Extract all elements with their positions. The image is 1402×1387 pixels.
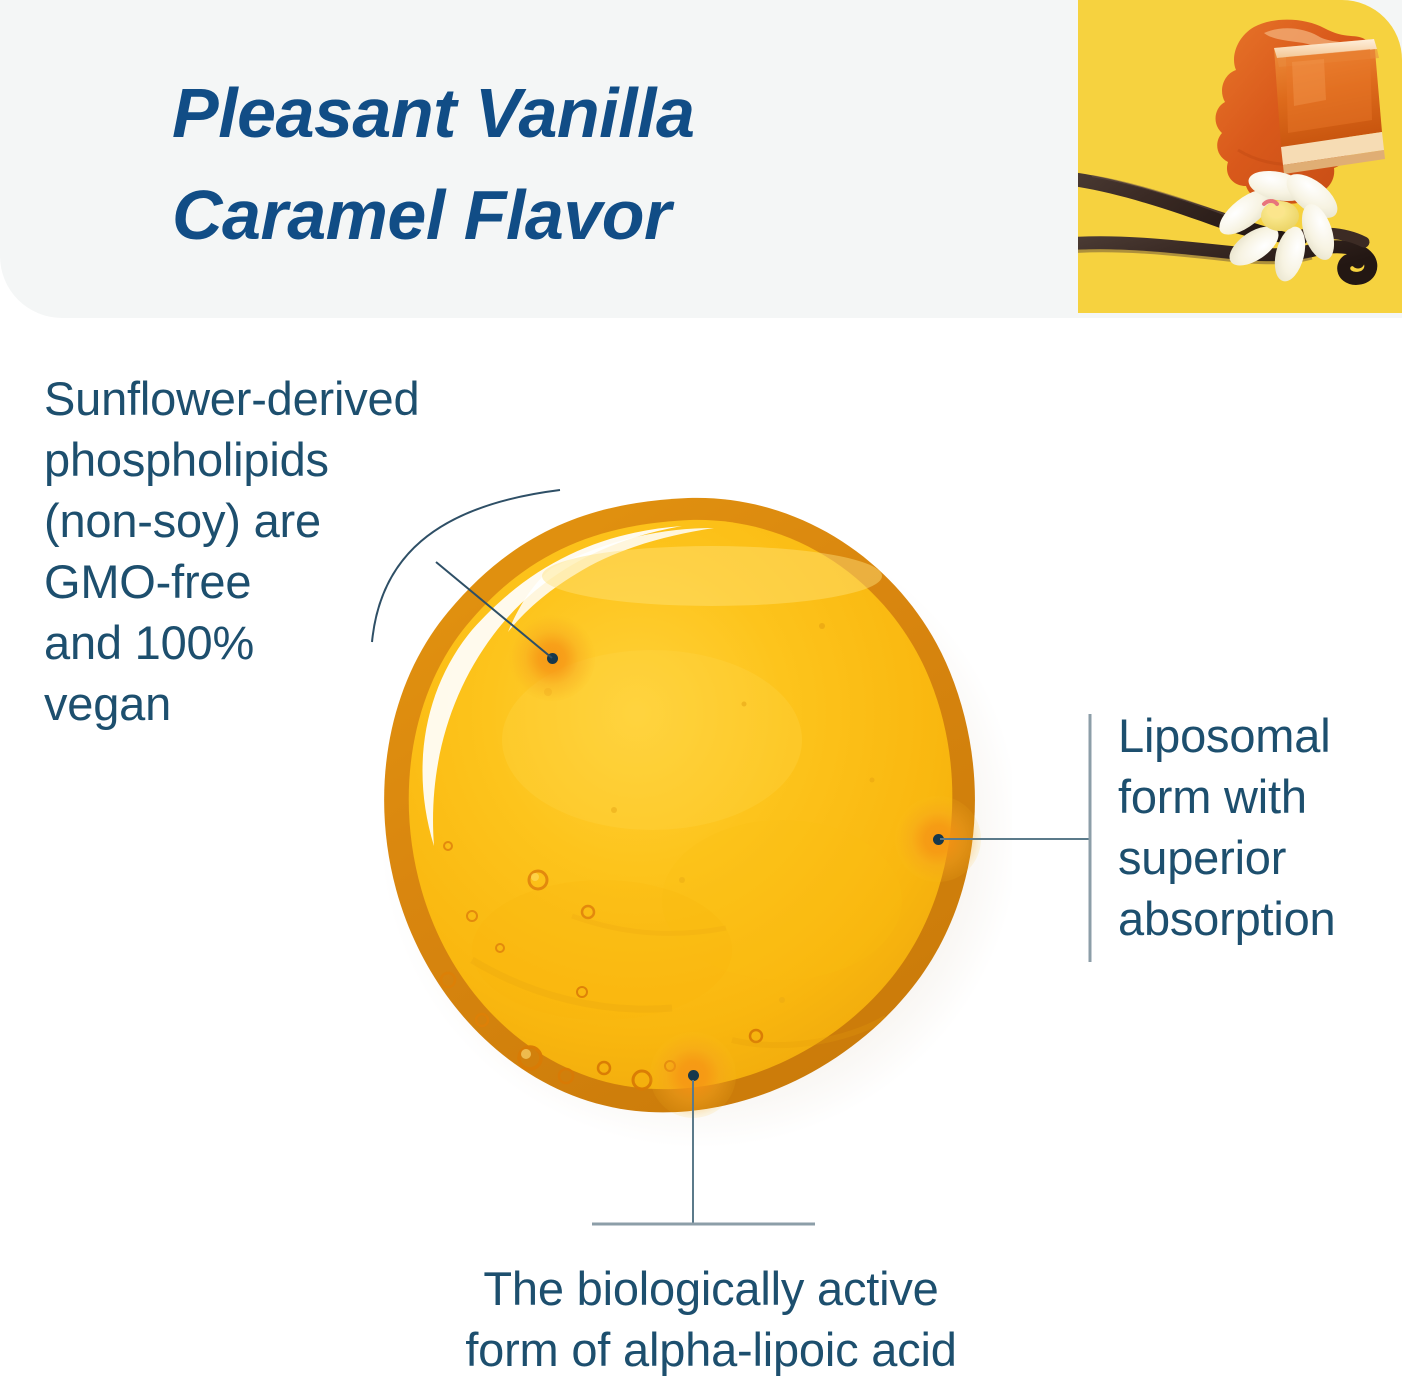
marker-dot (933, 834, 944, 845)
marker-dot (688, 1070, 699, 1081)
callout-text-phospholipids: Sunflower-derived phospholipids (non-soy… (44, 368, 444, 735)
callout-text-liposomal: Liposomal form with superior absorption (1118, 705, 1394, 949)
marker-liposomal[interactable] (895, 796, 981, 882)
callout-text-alpha-lipoic: The biologically active form of alpha-li… (402, 1258, 1020, 1380)
header-band: Pleasant Vanilla Caramel Flavor (0, 0, 1402, 318)
infographic-page: Pleasant Vanilla Caramel Flavor (0, 0, 1402, 1387)
marker-alpha-lipoic[interactable] (650, 1032, 736, 1118)
flavor-image-panel (1078, 0, 1402, 313)
marker-dot (547, 653, 558, 664)
gel-droplet-image (352, 480, 1012, 1170)
flavor-art (1078, 0, 1402, 313)
page-title: Pleasant Vanilla Caramel Flavor (172, 62, 1012, 266)
caramel-cube-icon (1274, 39, 1385, 174)
marker-phospholipids[interactable] (509, 615, 595, 701)
